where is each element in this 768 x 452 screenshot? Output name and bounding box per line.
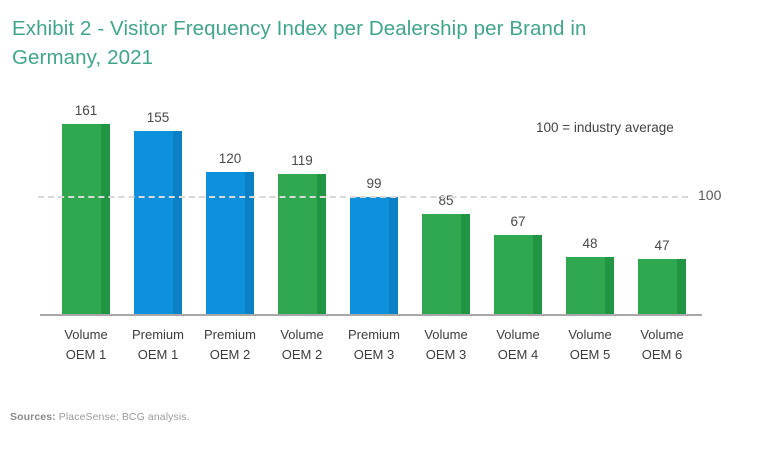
bar-group: 99PremiumOEM 3: [350, 0, 398, 452]
bar-edge-highlight: [461, 214, 470, 314]
tick-label-line2: OEM 3: [408, 345, 484, 365]
x-axis-tick-label: VolumeOEM 3: [408, 325, 484, 365]
bar-group: 67VolumeOEM 4: [494, 0, 542, 452]
tick-label-line2: OEM 1: [48, 345, 124, 365]
bar[interactable]: [566, 257, 614, 314]
bar-edge-highlight: [245, 172, 254, 314]
bar[interactable]: [350, 197, 398, 314]
bar-edge-highlight: [317, 174, 326, 314]
sources-text: PlaceSense; BCG analysis.: [56, 411, 190, 423]
chart-plot-area: 161VolumeOEM 1155PremiumOEM 1120PremiumO…: [0, 0, 768, 452]
bar-group: 161VolumeOEM 1: [62, 0, 110, 452]
bar[interactable]: [62, 124, 110, 314]
tick-label-line1: Volume: [48, 325, 124, 345]
x-axis-tick-label: VolumeOEM 4: [480, 325, 556, 365]
bar-value-label: 48: [556, 236, 624, 251]
bar-edge-highlight: [173, 131, 182, 314]
bar-edge-highlight: [101, 124, 110, 314]
tick-label-line1: Volume: [552, 325, 628, 345]
reference-axis-label: 100: [698, 187, 721, 203]
bar-group: 155PremiumOEM 1: [134, 0, 182, 452]
bar[interactable]: [278, 174, 326, 314]
tick-label-line1: Premium: [120, 325, 196, 345]
bar-group: 85VolumeOEM 3: [422, 0, 470, 452]
chart-annotation: 100 = industry average: [536, 120, 674, 135]
bar-edge-highlight: [389, 197, 398, 314]
tick-label-line2: OEM 1: [120, 345, 196, 365]
reference-line: [38, 196, 688, 198]
tick-label-line1: Premium: [192, 325, 268, 345]
tick-label-line2: OEM 6: [624, 345, 700, 365]
tick-label-line1: Volume: [480, 325, 556, 345]
sources-label: Sources:: [10, 411, 56, 423]
bar-value-label: 47: [628, 238, 696, 253]
bar-value-label: 161: [52, 103, 120, 118]
x-axis-tick-label: VolumeOEM 5: [552, 325, 628, 365]
tick-label-line1: Volume: [624, 325, 700, 345]
x-axis-tick-label: PremiumOEM 3: [336, 325, 412, 365]
bar-value-label: 155: [124, 110, 192, 125]
bar[interactable]: [422, 214, 470, 314]
footer-divider: [0, 396, 768, 397]
bar-value-label: 99: [340, 176, 408, 191]
bar-group: 119VolumeOEM 2: [278, 0, 326, 452]
bar-group: 47VolumeOEM 6: [638, 0, 686, 452]
x-axis-tick-label: PremiumOEM 2: [192, 325, 268, 365]
x-axis-tick-label: VolumeOEM 6: [624, 325, 700, 365]
tick-label-line2: OEM 4: [480, 345, 556, 365]
bar-edge-highlight: [533, 235, 542, 314]
tick-label-line1: Premium: [336, 325, 412, 345]
bar-value-label: 85: [412, 193, 480, 208]
bar-edge-highlight: [677, 259, 686, 314]
bar[interactable]: [206, 172, 254, 314]
tick-label-line1: Volume: [264, 325, 340, 345]
bar-group: 120PremiumOEM 2: [206, 0, 254, 452]
tick-label-line2: OEM 3: [336, 345, 412, 365]
tick-label-line2: OEM 2: [192, 345, 268, 365]
tick-label-line2: OEM 2: [264, 345, 340, 365]
bar-group: 48VolumeOEM 5: [566, 0, 614, 452]
sources-note: Sources: PlaceSense; BCG analysis.: [10, 411, 190, 423]
x-axis-tick-label: VolumeOEM 1: [48, 325, 124, 365]
x-axis-tick-label: PremiumOEM 1: [120, 325, 196, 365]
tick-label-line2: OEM 5: [552, 345, 628, 365]
bar-value-label: 120: [196, 151, 264, 166]
x-axis-line: [40, 314, 702, 316]
bar-value-label: 67: [484, 214, 552, 229]
bar[interactable]: [638, 259, 686, 314]
bar[interactable]: [494, 235, 542, 314]
bar[interactable]: [134, 131, 182, 314]
tick-label-line1: Volume: [408, 325, 484, 345]
x-axis-tick-label: VolumeOEM 2: [264, 325, 340, 365]
bar-edge-highlight: [605, 257, 614, 314]
bar-value-label: 119: [268, 153, 336, 168]
